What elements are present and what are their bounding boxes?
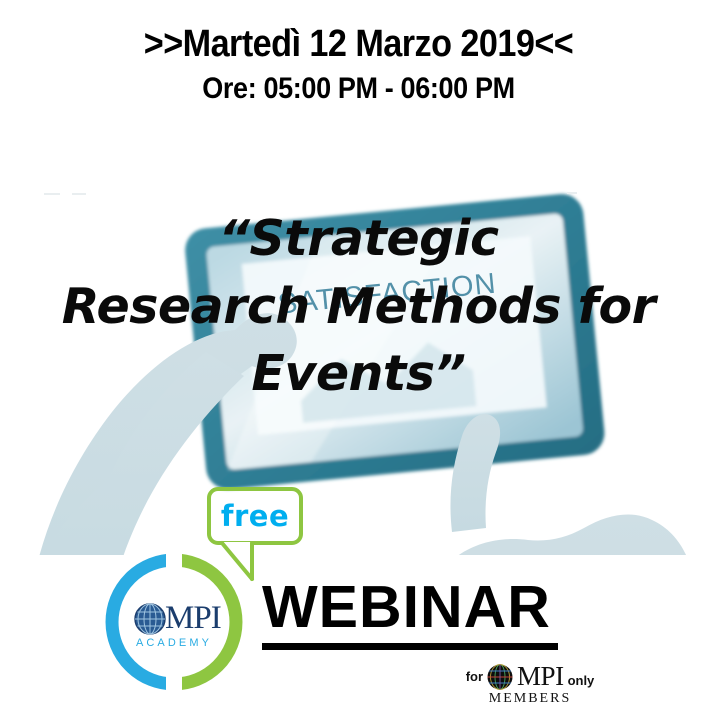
event-date: >>Martedì 12 Marzo 2019<< [36,24,681,65]
webinar-heading: WEBINAR [262,578,558,650]
scan-artifact [44,193,60,195]
members-only-label: only [568,674,595,690]
members-for-label: for [466,670,483,683]
logo-brand-text: MPI [165,600,221,636]
event-time: Ore: 05:00 PM - 06:00 PM [36,71,681,107]
free-label: free [211,491,299,541]
webinar-label: WEBINAR [262,578,558,637]
scan-artifact [72,193,86,195]
header-block: >>Martedì 12 Marzo 2019<< Ore: 05:00 PM … [0,24,717,107]
members-word: MEMBERS [420,691,640,707]
logo-sub-text: ACADEMY [136,637,212,649]
tablet-hands-illustration: SATISFACTION [0,180,717,555]
scan-artifact [567,192,577,194]
webinar-poster: >>Martedì 12 Marzo 2019<< Ore: 05:00 PM … [0,0,717,717]
members-brand-text: MPI [517,663,564,690]
members-notice: for MPI only MEMBERS [420,663,640,707]
free-badge: free [207,487,303,545]
webinar-underline [262,643,558,650]
mpi-dark-globe-icon [487,664,513,690]
mpi-globe-icon [135,604,165,634]
mpi-academy-logo: MPI ACADEMY [104,552,244,692]
background-illustration: SATISFACTION [0,180,717,555]
